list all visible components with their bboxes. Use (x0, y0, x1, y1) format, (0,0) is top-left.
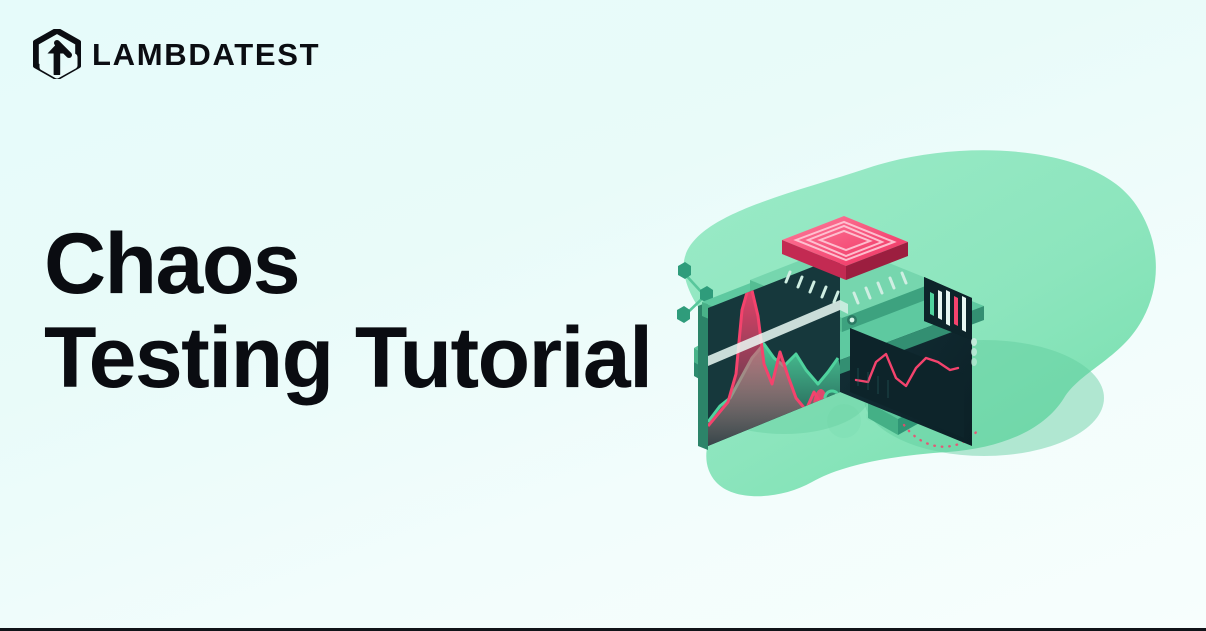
server-led-indicators-icon (971, 338, 977, 366)
page-title: Chaos Testing Tutorial (44, 218, 704, 405)
lambdatest-logo[interactable]: LAMBDATEST (33, 28, 320, 80)
hero-banner: LAMBDATEST Chaos Testing Tutorial (0, 0, 1206, 631)
lambdatest-wordmark: LAMBDATEST (92, 39, 320, 70)
page-title-line-1: Chaos (44, 218, 704, 312)
page-title-line-2: Testing Tutorial (44, 312, 704, 406)
lambdatest-hexagon-arrow-logo-icon (33, 29, 81, 79)
isometric-chaos-testing-illustration (672, 130, 1172, 530)
